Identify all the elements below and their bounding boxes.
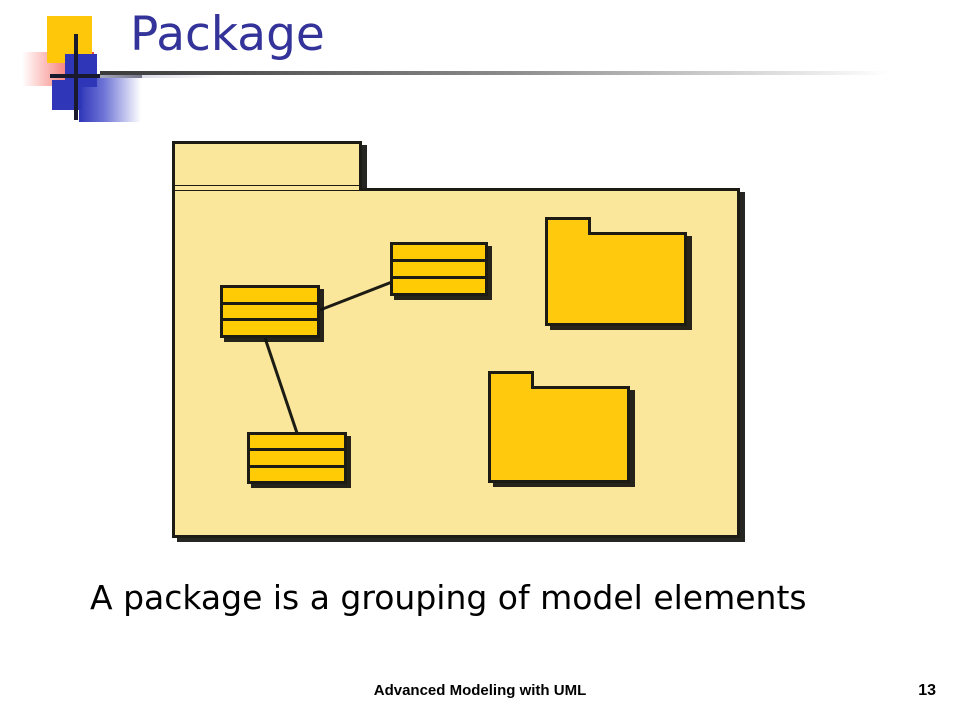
slide-canvas: Package <box>0 0 960 720</box>
class-name-compartment <box>223 288 317 305</box>
slide-caption: A package is a grouping of model element… <box>90 578 880 618</box>
footer-page-number: 13 <box>918 681 936 701</box>
class-attribute-compartment <box>250 451 344 467</box>
uml-class-bottom[interactable] <box>247 432 347 484</box>
class-name-compartment <box>250 435 344 451</box>
class-operation-compartment <box>250 468 344 481</box>
uml-class-top[interactable] <box>390 242 488 296</box>
footer-title: Advanced Modeling with UML <box>0 681 960 701</box>
class-operation-compartment <box>223 321 317 335</box>
uml-class-left[interactable] <box>220 285 320 338</box>
nested-package-2-body[interactable] <box>488 386 630 483</box>
outer-package-seam <box>175 186 359 190</box>
class-operation-compartment <box>393 279 485 293</box>
nested-package-2-seam <box>491 384 531 389</box>
nested-package-1-seam <box>548 230 588 235</box>
nested-package-1-body[interactable] <box>545 232 687 326</box>
class-attribute-compartment <box>393 262 485 279</box>
class-attribute-compartment <box>223 305 317 322</box>
outer-package-tab <box>172 141 362 188</box>
class-name-compartment <box>393 245 485 262</box>
